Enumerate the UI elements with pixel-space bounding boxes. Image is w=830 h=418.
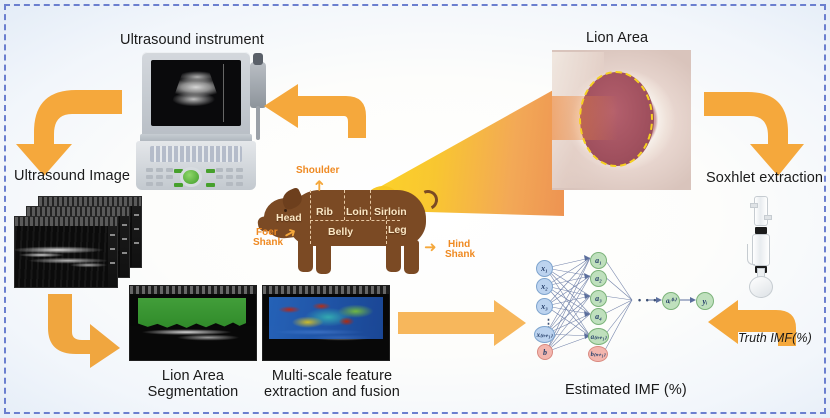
arrow-ultrasound-image-to-segmentation — [26, 292, 122, 368]
arrow-pig-to-instrument — [262, 82, 366, 138]
ultrasound-instrument-image — [136, 52, 266, 190]
pig-cut-sirloin: Sirloin — [374, 206, 407, 218]
nn-hidden-bias-node: b₍ₙ₊₁₎ — [588, 346, 608, 362]
cut-divider-3 — [370, 190, 371, 220]
machine-screen — [151, 60, 241, 126]
pig-cut-foer-shank-2: Shank — [253, 238, 283, 249]
soxhlet-extraction-label: Soxhlet extraction — [706, 170, 823, 186]
multiscale-caption-line2: extraction and fusion — [264, 384, 400, 400]
pig-cut-head: Head — [276, 212, 302, 224]
nn-input-node-1: x₁ — [536, 260, 553, 277]
arrow-features-to-network — [398, 300, 528, 346]
soxhlet-condenser — [754, 196, 768, 226]
feature-heatmap-image — [262, 285, 390, 361]
truth-imf-label: Truth IMF(%) — [738, 330, 812, 346]
pig-cut-loin: Loin — [346, 206, 368, 218]
nn-hidden-node-3: a₃ — [590, 290, 607, 307]
multiscale-caption: Multi-scale feature extraction and fusio… — [252, 368, 412, 400]
arrow-lion-area-to-soxhlet — [702, 86, 806, 178]
segmentation-image — [129, 285, 257, 361]
nn-edges — [528, 252, 704, 364]
nn-output-node-a: aᵢ⁽ᵏ⁾ — [662, 292, 680, 310]
segmentation-caption: Lion Area Segmentation — [122, 368, 264, 400]
lion-area-photo — [552, 50, 691, 190]
cut-divider-2 — [344, 190, 345, 220]
nn-output-node-y: yᵢ — [696, 292, 714, 310]
machine-function-row — [150, 146, 242, 162]
hind-shank-pointer-icon: ➜ — [424, 240, 437, 255]
ultrasound-image-stack — [14, 196, 142, 288]
pig-cut-rib: Rib — [316, 206, 333, 218]
lion-area-ellipse-annotation — [579, 71, 653, 167]
pig-cut-hind-shank-2: Shank — [445, 250, 475, 261]
soxhlet-round-bottom-flask — [749, 276, 773, 298]
nn-input-bias-node: b — [537, 344, 553, 360]
pig-foreleg-2 — [316, 240, 331, 274]
nn-input-node-2: x₂ — [536, 278, 553, 295]
pig-hindleg-1 — [386, 238, 401, 272]
seg-deep-tissue — [130, 326, 256, 360]
segmentation-caption-line1: Lion Area — [162, 368, 224, 384]
pig-hindleg-2 — [404, 240, 419, 274]
ultrasound-image-label: Ultrasound Image — [14, 168, 130, 184]
nn-hidden-node-n: a₍ₙ₊₁₎ — [588, 328, 609, 345]
machine-probe-cord — [256, 106, 260, 140]
machine-screen-shell — [142, 52, 250, 136]
estimated-imf-label: Estimated IMF (%) — [565, 382, 687, 398]
cut-divider-5 — [310, 220, 400, 221]
arrow-instrument-to-ultrasound-image — [14, 84, 122, 180]
nn-input-node-n: x₍ₙ₊₁₎ — [534, 326, 555, 343]
cut-divider-1 — [310, 190, 311, 244]
soxhlet-joint-upper — [755, 227, 767, 234]
ultrasound-frame-front — [14, 216, 118, 288]
ultrasound-instrument-label: Ultrasound instrument — [120, 32, 264, 48]
machine-trackball — [183, 170, 199, 184]
heat-scan-header — [263, 286, 389, 294]
figure-canvas: Ultrasound instrument — [0, 0, 830, 418]
pig-cut-belly: Belly — [328, 226, 353, 238]
nn-hidden-node-1: a₁ — [590, 252, 607, 269]
segmentation-caption-line2: Segmentation — [148, 384, 239, 400]
soxhlet-apparatus — [742, 196, 782, 302]
nn-hidden-node-2: a₂ — [590, 270, 607, 287]
nn-input-node-3: x₃ — [536, 298, 553, 315]
machine-scan-line — [223, 64, 224, 122]
nn-mid-ellipsis: • • • — [638, 296, 657, 304]
soxhlet-siphon-tube — [747, 244, 755, 265]
nn-hidden-node-4: a₄ — [590, 308, 607, 325]
shoulder-pointer-icon: ➜ — [312, 179, 327, 192]
neural-network-diagram: x₁ x₂ x₃ ⋮ x₍ₙ₊₁₎ b a₁ a₂ a₃ a₄ a₍ₙ₊₁₎ b… — [528, 252, 704, 364]
multiscale-caption-line1: Multi-scale feature — [272, 368, 392, 384]
pig-cut-shoulder: Shoulder — [296, 166, 339, 177]
lion-area-label: Lion Area — [586, 30, 648, 46]
machine-scan-sector — [165, 62, 227, 122]
seg-scan-header — [130, 286, 256, 294]
pig-cut-leg: Leg — [388, 224, 407, 236]
heat-jet-overlay — [269, 297, 383, 339]
